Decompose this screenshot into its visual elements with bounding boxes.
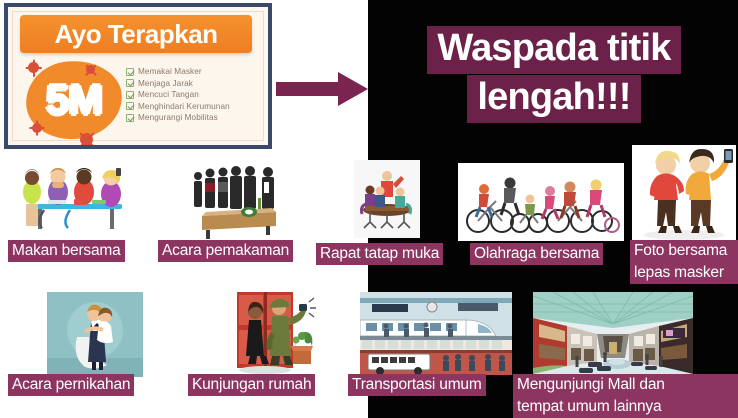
check-icon — [126, 102, 134, 110]
tile-image-foto-bersama — [632, 145, 736, 242]
tile-image-acara-pemakaman — [176, 160, 298, 240]
caption-foto-bersama: Foto bersama lepas masker — [630, 240, 738, 284]
check-icon — [126, 114, 134, 122]
tile-image-rapat-tatap-muka — [354, 160, 420, 238]
caption-acara-pemakaman: Acara pemakaman — [158, 240, 293, 262]
caption-line-2: tempat umum lainnya — [517, 396, 735, 418]
list-item-label: Memakai Masker — [138, 67, 202, 76]
title-line-1: Waspada titik — [427, 26, 680, 74]
poster-banner: Ayo Terapkan — [20, 15, 252, 53]
poster-5m: Ayo Terapkan 5M Memakai Masker Menjaga J… — [4, 3, 272, 149]
caption-line-1: Foto bersama — [634, 240, 734, 262]
slide-canvas: Ayo Terapkan 5M Memakai Masker Menjaga J… — [0, 0, 738, 418]
caption-rapat-tatap-muka: Rapat tatap muka — [316, 243, 443, 265]
caption-line-1: Mengunjungi Mall dan — [517, 374, 735, 396]
right-arrow-icon — [276, 70, 368, 108]
list-item-label: Mencuci Tangan — [138, 90, 199, 99]
tile-image-olahraga-bersama — [458, 163, 624, 241]
list-item: Mengurangi Mobilitas — [126, 113, 266, 122]
caption-line-2: lepas masker — [634, 262, 734, 284]
tile-image-mengunjungi-mall — [533, 292, 693, 374]
title-line-2: lengah!!! — [467, 75, 640, 123]
list-item: Mencuci Tangan — [126, 90, 266, 99]
caption-olahraga-bersama: Olahraga bersama — [470, 243, 603, 265]
check-icon — [126, 91, 134, 99]
list-item-label: Mengurangi Mobilitas — [138, 113, 218, 122]
caption-kunjungan-rumah: Kunjungan rumah — [188, 374, 315, 396]
caption-makan-bersama: Makan bersama — [8, 240, 125, 262]
tile-image-transportasi-umum — [360, 292, 512, 375]
list-item: Memakai Masker — [126, 67, 266, 76]
list-item-label: Menjaga Jarak — [138, 79, 193, 88]
virus-icon — [80, 133, 93, 146]
poster-measure-list: Memakai Masker Menjaga Jarak Mencuci Tan… — [126, 67, 266, 125]
page-title: Waspada titik lengah!!! — [378, 26, 730, 123]
tile-image-acara-pernikahan — [47, 292, 143, 377]
tile-image-kunjungan-rumah — [225, 290, 321, 378]
list-item-label: Menghindari Kerumunan — [138, 102, 230, 111]
caption-acara-pernikahan: Acara pernikahan — [8, 374, 134, 396]
check-icon — [126, 79, 134, 87]
caption-mengunjungi-mall: Mengunjungi Mall dan tempat umum lainnya — [513, 374, 738, 418]
caption-transportasi-umum: Transportasi umum — [348, 374, 486, 396]
check-icon — [126, 68, 134, 76]
tile-image-makan-bersama — [8, 160, 148, 238]
list-item: Menghindari Kerumunan — [126, 102, 266, 111]
poster-badge-5m: 5M — [22, 69, 126, 131]
poster-banner-label: Ayo Terapkan — [54, 19, 217, 50]
list-item: Menjaga Jarak — [126, 79, 266, 88]
